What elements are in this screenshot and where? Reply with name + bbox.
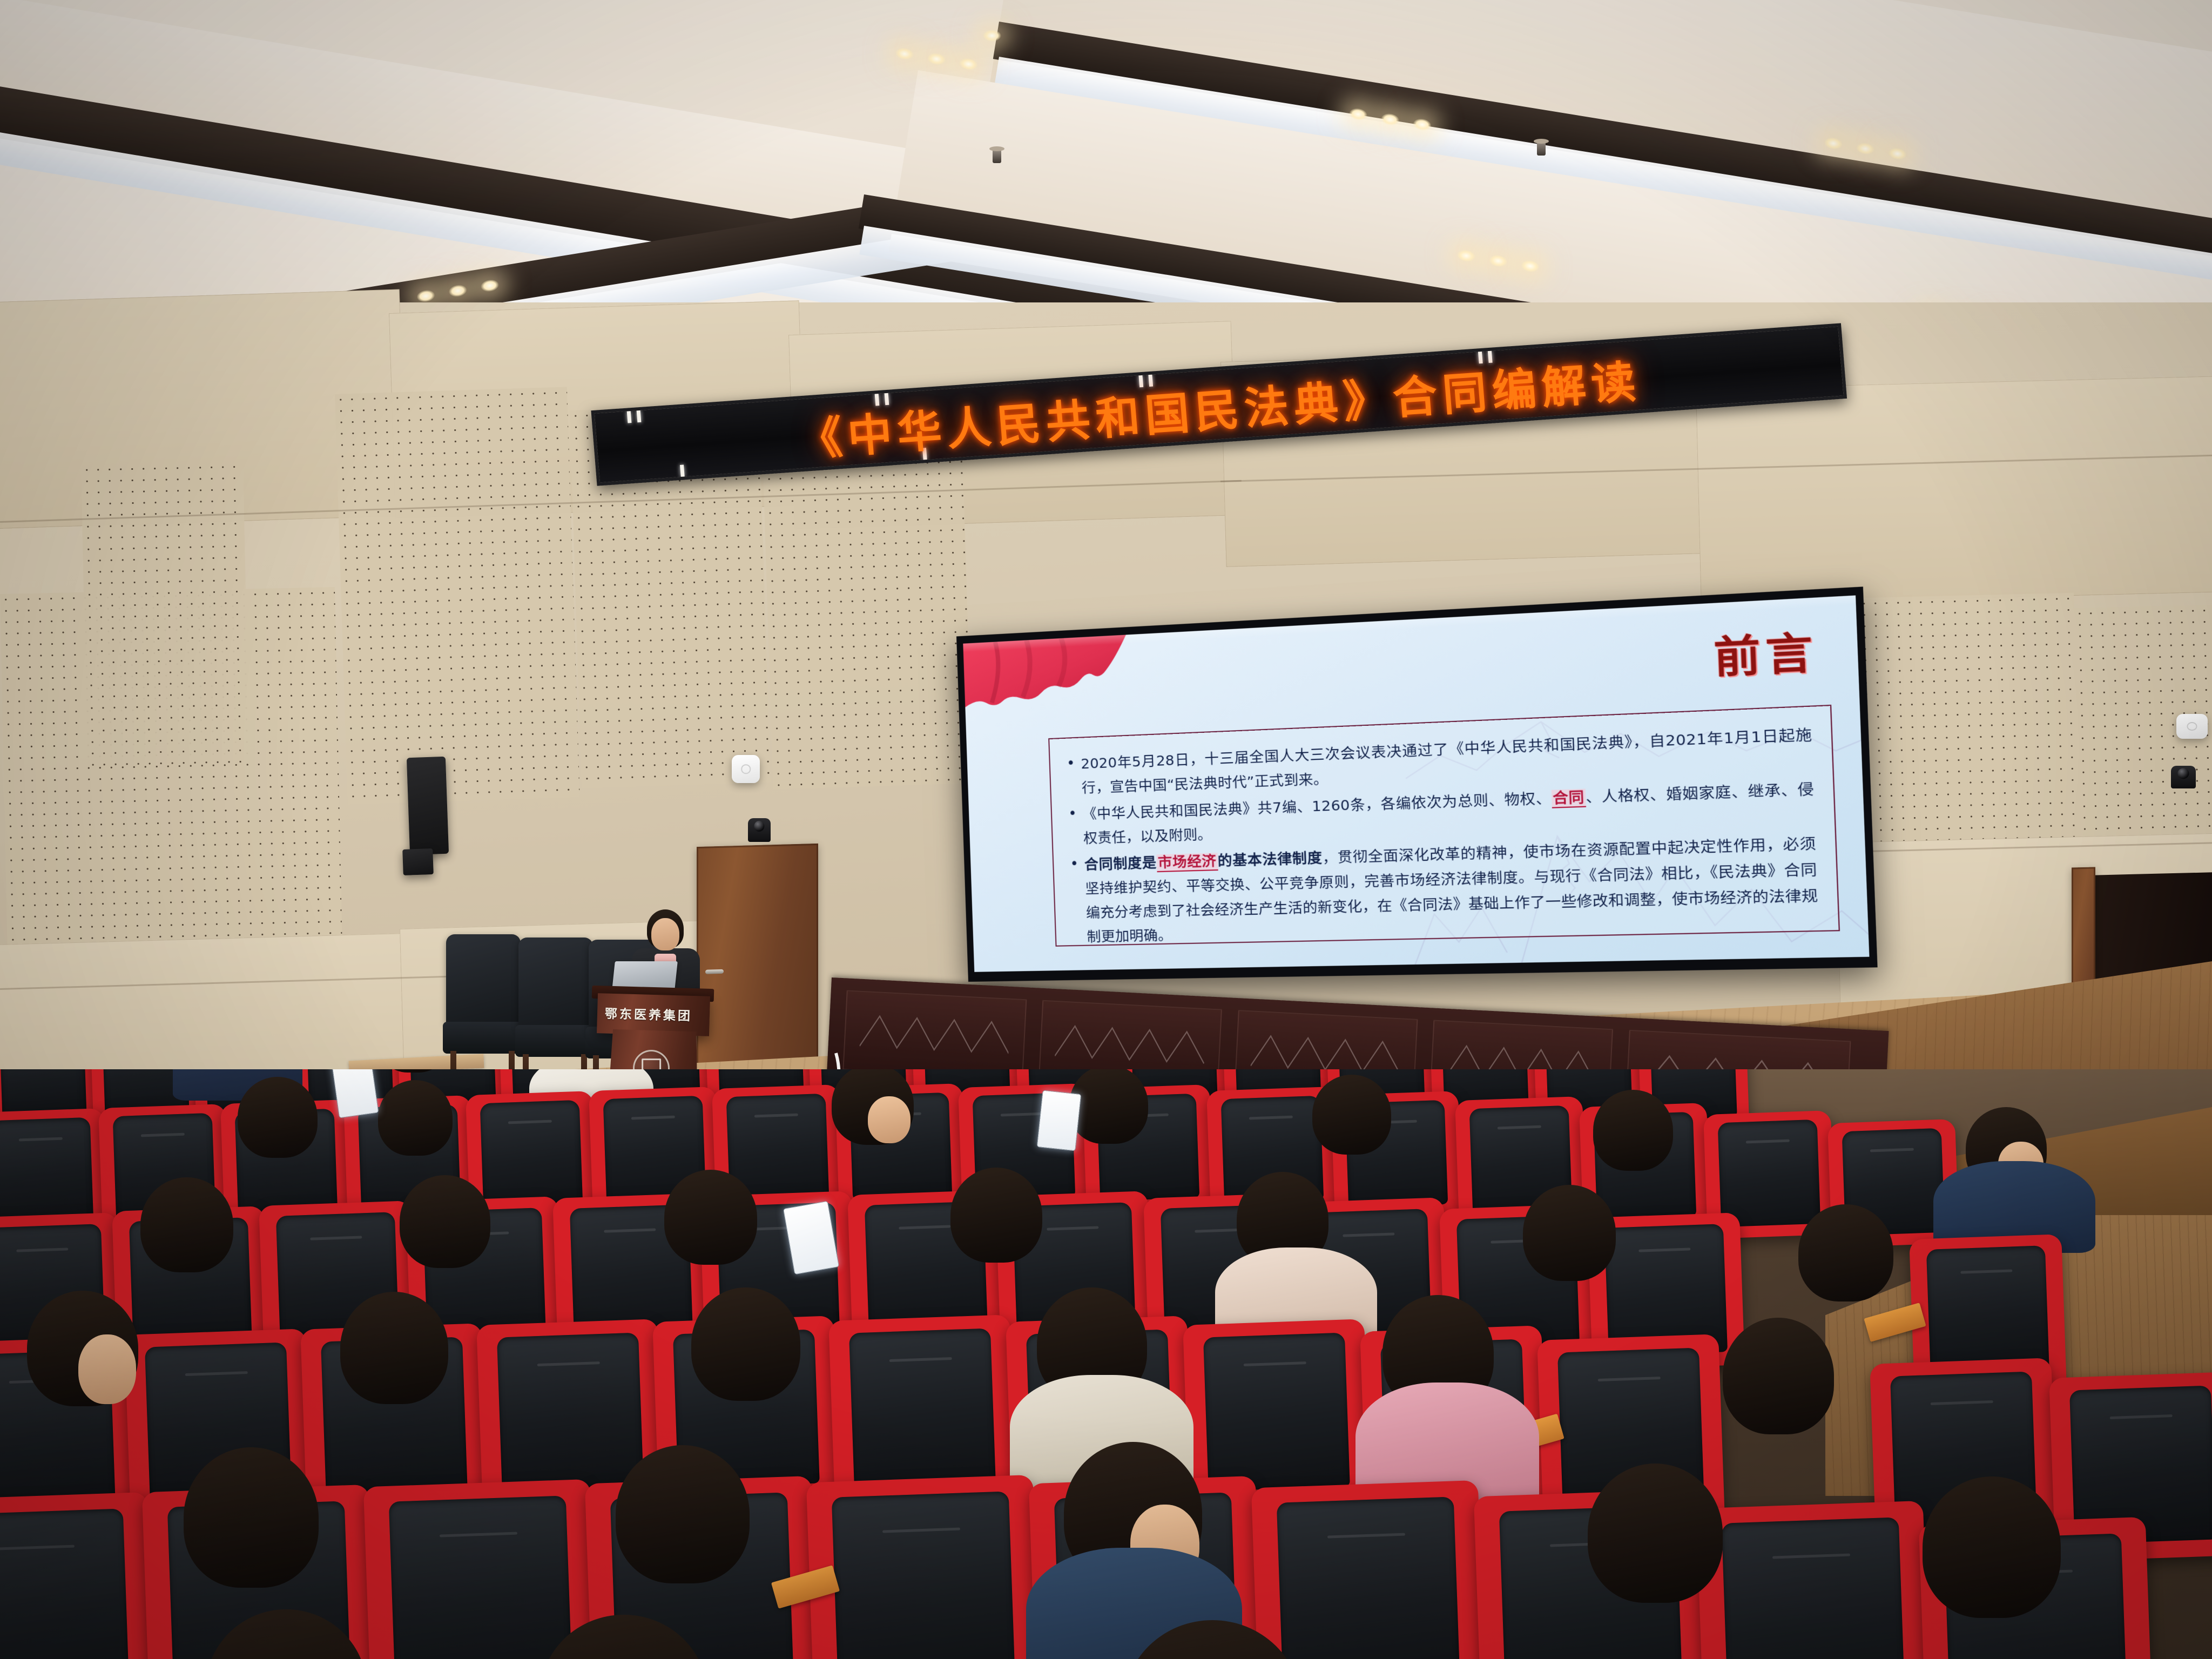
wifi-access-point <box>732 755 760 783</box>
audience-head <box>664 1170 757 1265</box>
banner-tick <box>680 464 685 476</box>
audience-head <box>238 1077 318 1158</box>
wall-speaker <box>407 757 449 855</box>
bullet-text-bold: 的基本法律制度 <box>1217 849 1323 869</box>
seat[interactable] <box>806 1475 1041 1659</box>
stage-chair[interactable] <box>446 934 521 1080</box>
audience-phone[interactable] <box>1037 1090 1082 1151</box>
banner-tick <box>627 411 632 423</box>
downlight <box>927 52 947 66</box>
bullet-text-bold: 合同制度是 <box>1084 854 1157 873</box>
highlight-market-economy: 市场经济 <box>1156 853 1218 872</box>
wall-panel <box>1696 376 2212 605</box>
audience-head <box>616 1445 750 1583</box>
audience-head <box>1923 1476 2061 1618</box>
audience-head <box>140 1177 233 1272</box>
wifi-access-point <box>2176 714 2208 739</box>
audience-head <box>400 1175 490 1268</box>
door-handle[interactable] <box>705 969 724 974</box>
auditorium-photo: 《中华人民共和国民法典》合同编解读 → <box>0 0 2212 1659</box>
audience-head <box>1312 1075 1391 1155</box>
chair-seat <box>515 1025 596 1057</box>
acoustic-perforated-panel <box>335 387 580 804</box>
chair-back <box>446 934 521 1028</box>
sprinkler-head <box>1537 141 1546 156</box>
audience-head <box>184 1447 319 1588</box>
audience-head <box>205 1609 367 1659</box>
downlight <box>983 30 1001 42</box>
zigzag-inlay <box>1055 1023 1205 1065</box>
downlight <box>959 57 979 71</box>
bullet-text: ，贯彻全面深化改革的精神，使市场在资源配置中起决定性作用，必须坚持维护契约、平等… <box>1085 835 1818 945</box>
led-display-screen: 前言 2020年5月28日，十三届全国人大三次会议表决通过了《中华人民共和国民法… <box>956 586 1878 982</box>
audience-head <box>340 1292 448 1404</box>
stage-chair[interactable] <box>518 938 593 1083</box>
downlight <box>894 46 914 61</box>
chair-seat <box>443 1022 523 1054</box>
slide-title: 前言 <box>1712 618 1819 686</box>
audience-seating <box>0 1069 2212 1659</box>
audience-head <box>1123 1620 1301 1659</box>
audience-phone[interactable] <box>331 1069 379 1118</box>
audience-head <box>1523 1185 1616 1281</box>
chair-back <box>518 938 593 1031</box>
audience-head <box>950 1168 1042 1263</box>
banner-tick <box>637 410 642 422</box>
slide-bullet-3: 合同制度是市场经济的基本法律制度，贯彻全面深化改革的精神，使市场在资源配置中起决… <box>1065 831 1819 950</box>
audience-head <box>378 1080 453 1156</box>
presentation-slide: 前言 2020年5月28日，十三届全国人大三次会议表决通过了《中华人民共和国民法… <box>963 595 1869 972</box>
sprinkler-head <box>993 149 1001 163</box>
speaker-bracket <box>402 848 434 875</box>
audience-head <box>27 1291 138 1406</box>
presenter-face <box>651 918 679 950</box>
audience-head <box>1798 1204 1893 1301</box>
audience-head <box>540 1615 707 1659</box>
ceiling-downlight-group <box>894 46 979 71</box>
seat[interactable] <box>0 1492 155 1659</box>
audience-head <box>1723 1318 1834 1434</box>
ptz-camera <box>2171 766 2196 788</box>
audience-head <box>1593 1090 1673 1171</box>
ptz-camera <box>748 818 771 842</box>
audience-head <box>832 1069 914 1145</box>
ceiling-downlight-group <box>983 30 1001 42</box>
audience-head <box>691 1287 800 1401</box>
seat[interactable] <box>1696 1501 1931 1659</box>
highlight-contract: 合同 <box>1551 788 1586 808</box>
podium-label: 鄂东医养集团 <box>605 1003 693 1024</box>
acoustic-perforated-panel <box>81 461 249 767</box>
audience-head <box>1069 1069 1148 1144</box>
audience-head <box>378 1069 448 1073</box>
red-flag-graphic <box>963 635 1129 746</box>
slide-textbox: 2020年5月28日，十三届全国人大三次会议表决通过了《中华人民共和国民法典》，… <box>1048 705 1840 947</box>
audience-head <box>1588 1464 1723 1603</box>
slide-bullet-list: 2020年5月28日，十三届全国人大三次会议表决通过了《中华人民共和国民法典》，… <box>1062 722 1819 949</box>
acoustic-perforated-panel <box>1847 593 2080 852</box>
